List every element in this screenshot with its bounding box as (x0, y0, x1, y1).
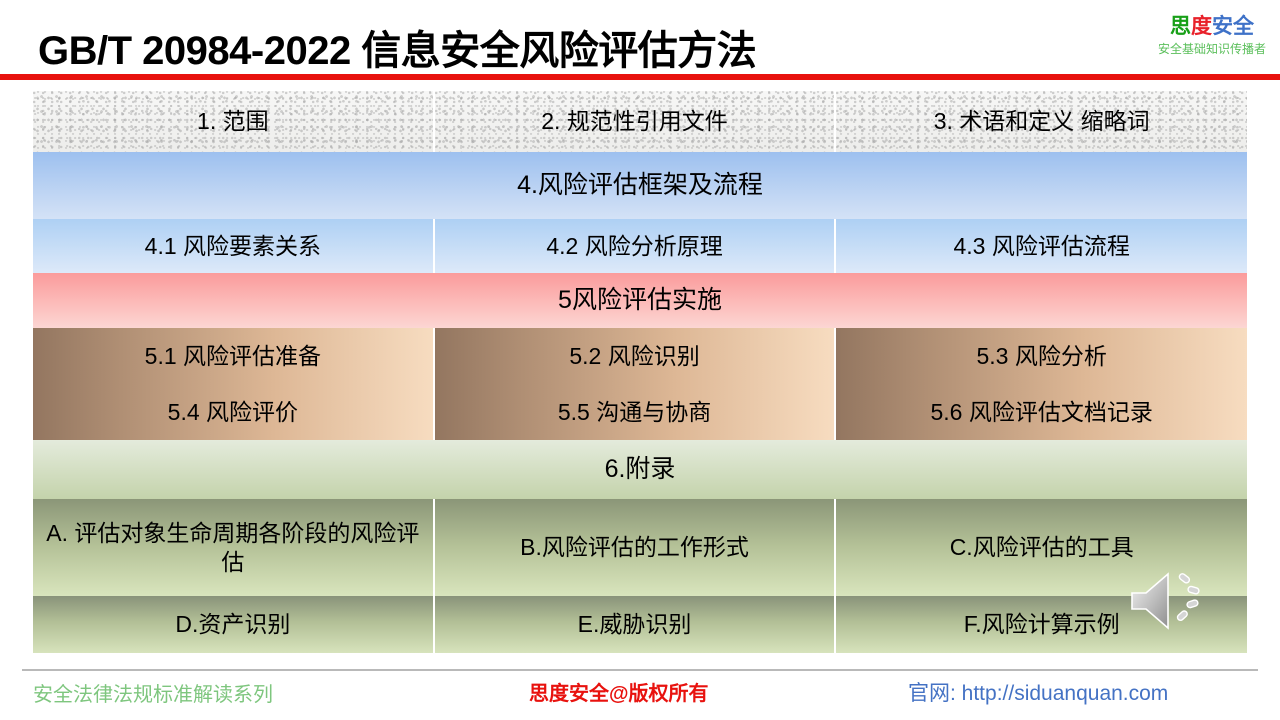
table-cell-appendix-banner[interactable]: 6.附录 (33, 440, 1247, 499)
brand-name: 思度安全 (1158, 16, 1266, 38)
page-title: GB/T 20984-2022 信息安全风险评估方法 (38, 18, 756, 76)
table-cell-section-4-2[interactable]: 4.2 风险分析原理 (435, 219, 835, 273)
slide-canvas: GB/T 20984-2022 信息安全风险评估方法 思度安全 安全基础知识传播… (0, 0, 1280, 720)
title-divider-rule (0, 74, 1280, 80)
table-cell-section-4-3[interactable]: 4.3 风险评估流程 (836, 219, 1247, 273)
footer-copyright: 思度安全@版权所有 (529, 677, 709, 706)
table-cell-appendix-b[interactable]: B.风险评估的工作形式 (435, 499, 835, 596)
table-cell-section-5-1[interactable]: 5.1 风险评估准备 (33, 328, 433, 384)
table-cell-chapter-2[interactable]: 2. 规范性引用文件 (435, 91, 835, 152)
footer-divider-rule (22, 669, 1258, 671)
brand-char-2: 度 (1191, 15, 1212, 38)
brand-tagline: 安全基础知识传播者 (1158, 43, 1266, 56)
table-row-sections-4x: 4.1 风险要素关系 4.2 风险分析原理 4.3 风险评估流程 (33, 219, 1247, 273)
table-cell-appendix-e[interactable]: E.威胁识别 (435, 596, 835, 653)
table-row-sections-5x-second: 5.4 风险评价 5.5 沟通与协商 5.6 风险评估文档记录 (33, 384, 1247, 440)
footer-website-link[interactable]: 官网: http://siduanquan.com (908, 677, 1168, 707)
brand-logo: 思度安全 安全基础知识传播者 (1158, 16, 1266, 56)
table-row-chapter-4-banner: 4.风险评估框架及流程 (33, 152, 1247, 219)
table-cell-section-5-6[interactable]: 5.6 风险评估文档记录 (836, 384, 1247, 440)
table-row-appendix-abc: A. 评估对象生命周期各阶段的风险评估 B.风险评估的工作形式 C.风险评估的工… (33, 499, 1247, 596)
table-row-chapter-5-banner: 5风险评估实施 (33, 273, 1247, 328)
table-cell-section-5-5[interactable]: 5.5 沟通与协商 (435, 384, 835, 440)
table-row-sections-5x-first: 5.1 风险评估准备 5.2 风险识别 5.3 风险分析 (33, 328, 1247, 384)
table-cell-chapter-4-banner[interactable]: 4.风险评估框架及流程 (33, 152, 1247, 219)
table-cell-appendix-d[interactable]: D.资产识别 (33, 596, 433, 653)
table-cell-section-5-3[interactable]: 5.3 风险分析 (836, 328, 1247, 384)
table-cell-section-5-2[interactable]: 5.2 风险识别 (435, 328, 835, 384)
brand-char-3: 安全 (1212, 15, 1254, 38)
slide-footer: 安全法律法规标准解读系列 思度安全@版权所有 官网: http://siduan… (0, 672, 1280, 720)
table-row-appendix-banner: 6.附录 (33, 440, 1247, 499)
table-cell-chapter-5-banner[interactable]: 5风险评估实施 (33, 273, 1247, 328)
table-cell-section-5-4[interactable]: 5.4 风险评价 (33, 384, 433, 440)
table-cell-chapter-1[interactable]: 1. 范围 (33, 91, 433, 152)
brand-char-1: 思 (1170, 15, 1191, 38)
table-cell-section-4-1[interactable]: 4.1 风险要素关系 (33, 219, 433, 273)
table-cell-chapter-3[interactable]: 3. 术语和定义 缩略词 (836, 91, 1247, 152)
table-row-appendix-def: D.资产识别 E.威胁识别 F.风险计算示例 (33, 596, 1247, 653)
slide-header: GB/T 20984-2022 信息安全风险评估方法 思度安全 安全基础知识传播… (0, 0, 1280, 78)
table-cell-appendix-f[interactable]: F.风险计算示例 (836, 596, 1247, 653)
table-row-chapters-1-3: 1. 范围 2. 规范性引用文件 3. 术语和定义 缩略词 (33, 91, 1247, 152)
table-cell-appendix-a[interactable]: A. 评估对象生命周期各阶段的风险评估 (33, 499, 433, 596)
table-cell-appendix-c[interactable]: C.风险评估的工具 (836, 499, 1247, 596)
footer-series-label: 安全法律法规标准解读系列 (33, 678, 273, 707)
standard-structure-table: 1. 范围 2. 规范性引用文件 3. 术语和定义 缩略词 4.风险评估框架及流… (33, 91, 1247, 663)
